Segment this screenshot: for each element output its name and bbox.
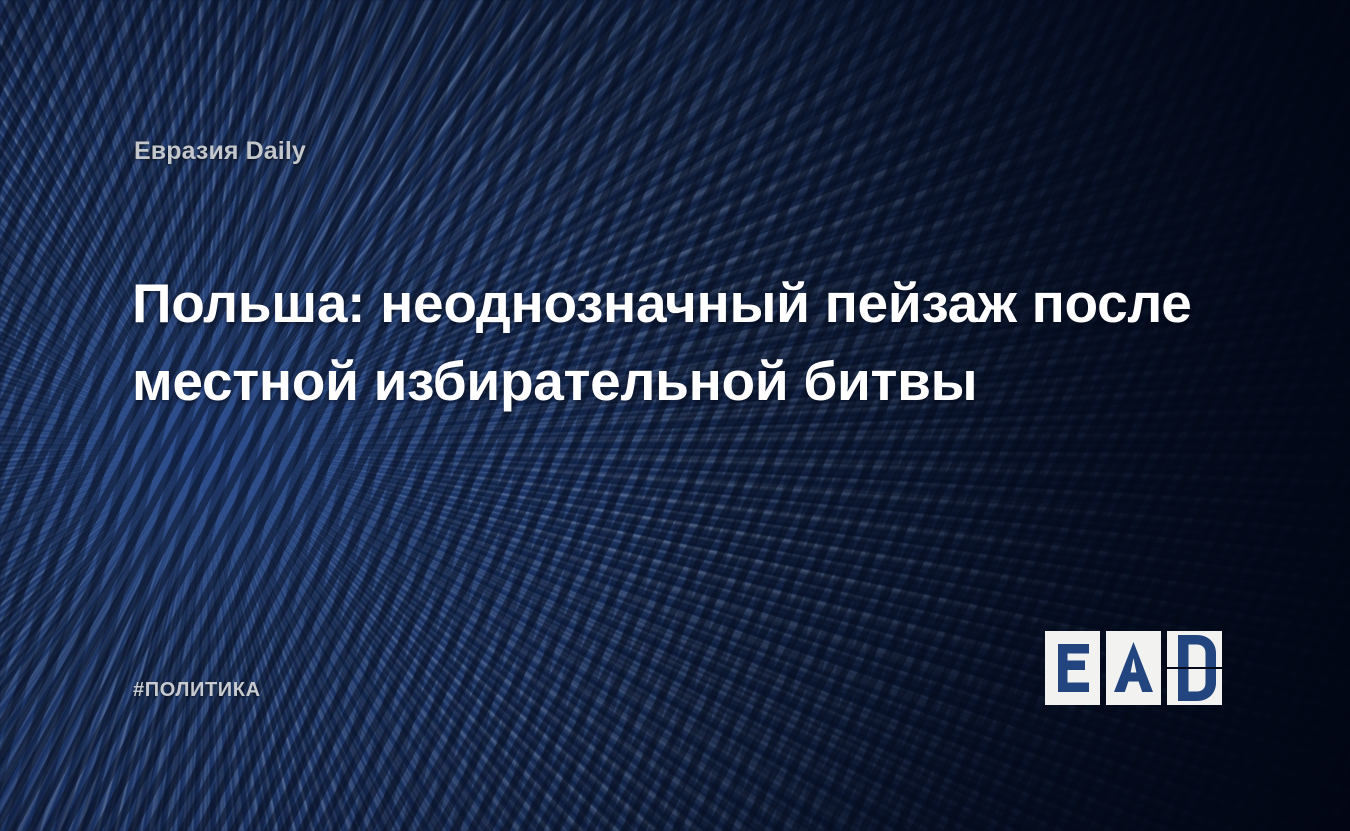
logo-tile-d-bottom bbox=[1167, 669, 1222, 705]
card-content: Евразия Daily Польша: неоднозначный пейз… bbox=[0, 0, 1350, 831]
logo-tile-e bbox=[1045, 631, 1100, 705]
logo-tile-stack-d bbox=[1167, 631, 1222, 705]
logo-tile-d-top bbox=[1167, 631, 1222, 667]
page-title: Польша: неоднозначный пейзаж после местн… bbox=[132, 264, 1202, 420]
eadaily-logo bbox=[1045, 631, 1223, 705]
social-share-card: Евразия Daily Польша: неоднозначный пейз… bbox=[0, 0, 1350, 831]
brand-name: Евразия Daily bbox=[134, 137, 306, 166]
category-tag: #ПОЛИТИКА bbox=[133, 679, 261, 702]
logo-tile-a bbox=[1106, 631, 1161, 705]
